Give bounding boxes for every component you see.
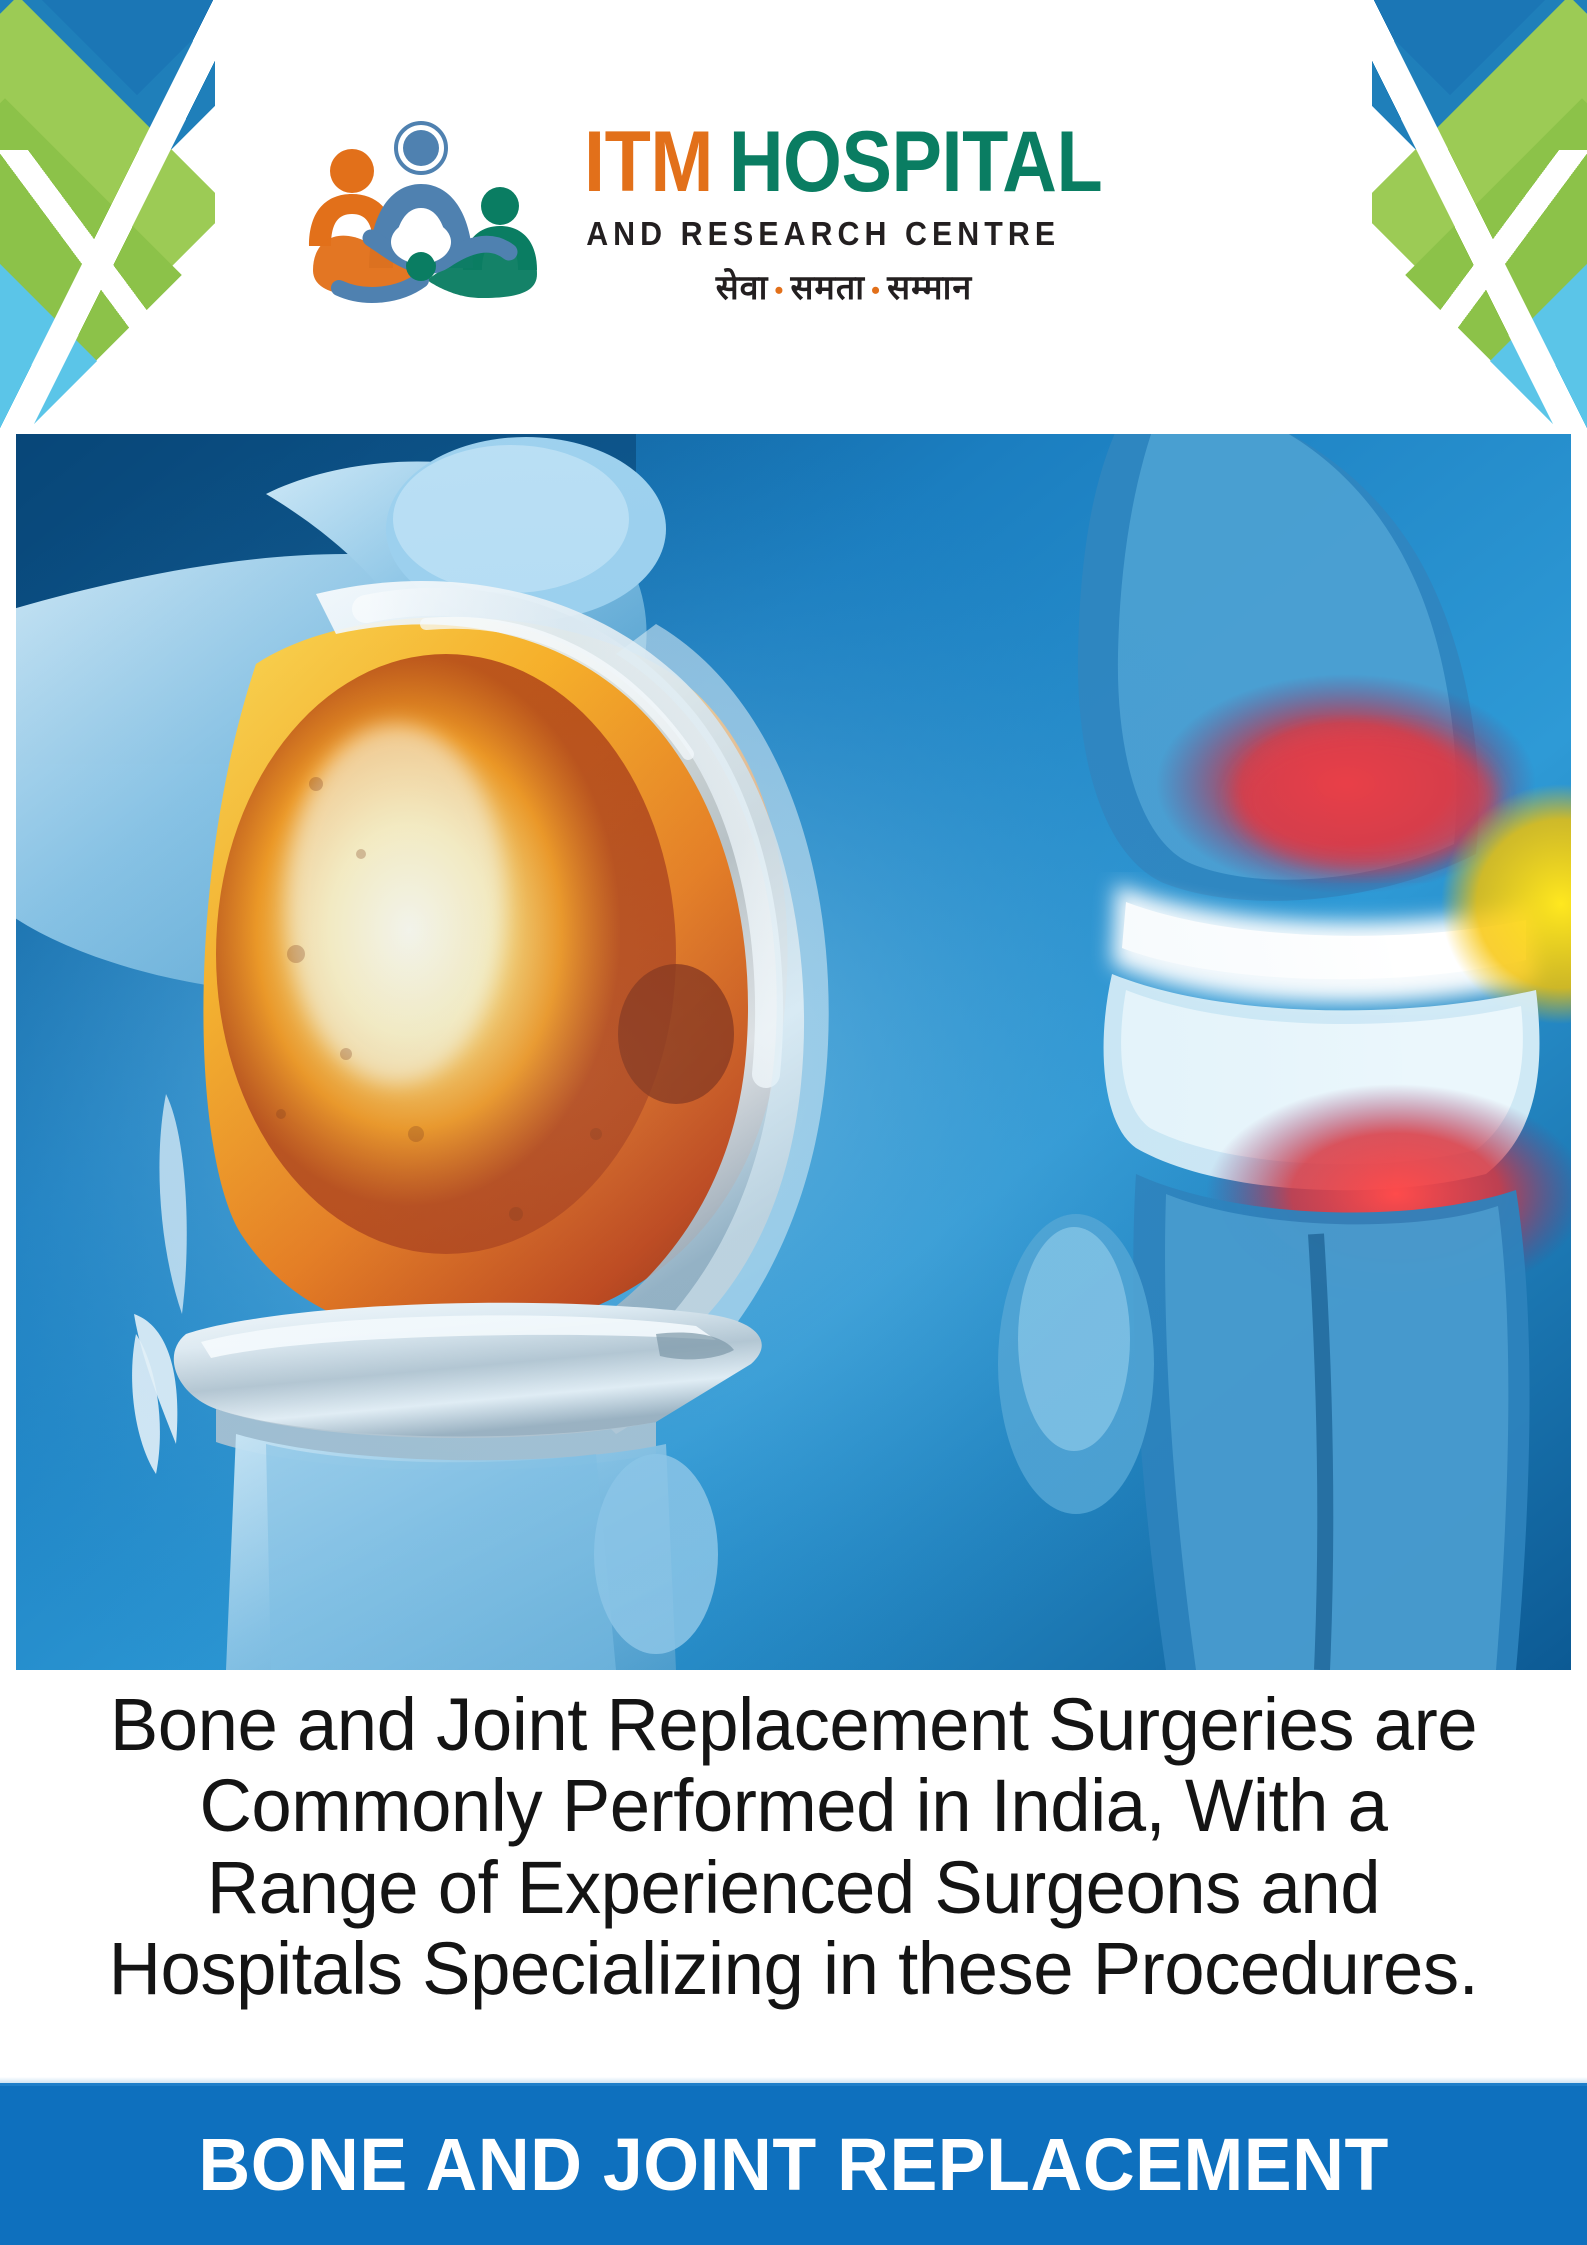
bottom-banner: BONE AND JOINT REPLACEMENT [0, 2083, 1587, 2245]
caption-block: Bone and Joint Replacement Surgeries are… [0, 1684, 1587, 2010]
caption-line-4: Hospitals Specializing in these Procedur… [57, 1928, 1530, 2009]
brand-name-itm: ITM [584, 114, 713, 210]
tagline-separator-1: • [768, 276, 790, 305]
poster-root: ITMHOSPITAL AND RESEARCH CENTRE सेवा•समत… [0, 0, 1587, 2245]
caption-line-1: Bone and Joint Replacement Surgeries are [57, 1684, 1530, 1765]
tagline-separator-2: • [865, 276, 887, 305]
caption-line-2: Commonly Performed in India, With a [57, 1765, 1530, 1846]
decorative-corner-right [1372, 0, 1587, 432]
poster-header: ITMHOSPITAL AND RESEARCH CENTRE सेवा•समत… [0, 0, 1587, 432]
tagline-word-1: सेवा [716, 270, 769, 307]
tagline-word-2: समता [791, 270, 866, 307]
brand-tagline-hindi: सेवा•समता•सम्मान [584, 263, 1104, 309]
three-people-infinity-logo-icon [295, 118, 550, 308]
brand-name-hospital: HOSPITAL [729, 114, 1102, 210]
decorative-corner-left [0, 0, 215, 432]
brand-subtitle: AND RESEARCH CENTRE [584, 215, 1062, 253]
logo-wordmark: ITMHOSPITAL AND RESEARCH CENTRE सेवा•समत… [584, 118, 1173, 309]
banner-title: BONE AND JOINT REPLACEMENT [198, 2122, 1388, 2207]
hero-medical-image [16, 434, 1571, 1670]
brand-name-line: ITMHOSPITAL [584, 122, 1102, 203]
hospital-logo[interactable]: ITMHOSPITAL AND RESEARCH CENTRE सेवा•समत… [295, 118, 1173, 309]
tagline-word-3: सम्मान [887, 270, 972, 307]
caption-line-3: Range of Experienced Surgeons and [57, 1847, 1530, 1928]
